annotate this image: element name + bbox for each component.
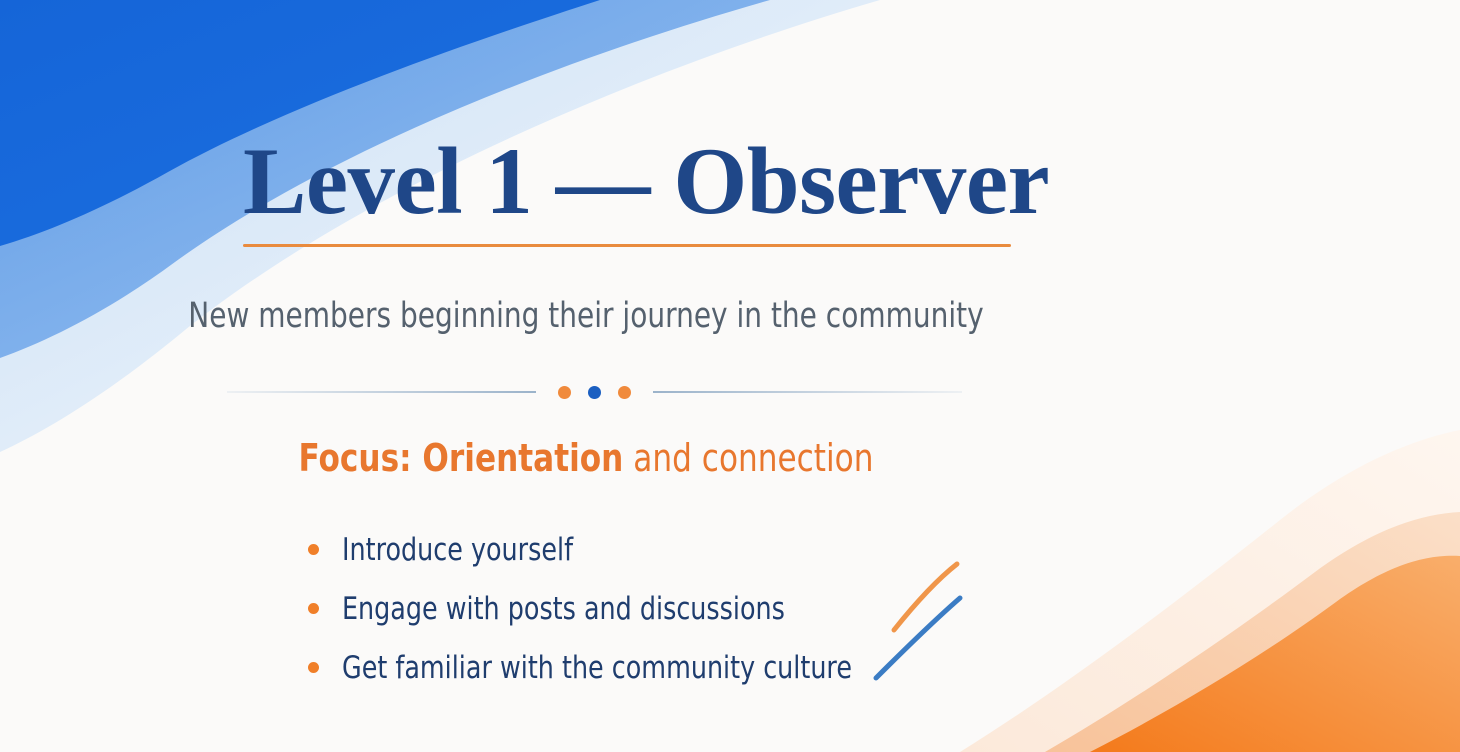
dot-orange-left [558, 386, 571, 399]
dot-blue-center [588, 386, 601, 399]
title-block: Level 1 — Observer [243, 133, 1011, 247]
dot-orange-right [618, 386, 631, 399]
list-item: Engage with posts and discussions [308, 579, 948, 638]
slide-canvas: Level 1 — Observer New members beginning… [0, 0, 1460, 752]
focus-label: Focus: Orientation [298, 436, 623, 480]
list-item-label: Introduce yourself [342, 532, 573, 568]
bullet-dot-icon [308, 544, 319, 555]
bullet-dot-icon [308, 603, 319, 614]
list-item-label: Get familiar with the community culture [342, 650, 852, 686]
focus-line: Focus: Orientation and connection [105, 436, 1066, 480]
list-item: Introduce yourself [308, 520, 948, 579]
bullet-list: Introduce yourself Engage with posts and… [308, 520, 948, 697]
divider-line-left [227, 391, 536, 393]
divider-dot-group [536, 386, 653, 399]
list-item: Get familiar with the community culture [308, 638, 948, 697]
title-underline-rule [243, 244, 1011, 247]
focus-detail: and connection [623, 436, 873, 480]
page-subtitle: New members beginning their journey in t… [117, 296, 1055, 336]
bullet-dot-icon [308, 662, 319, 673]
slide-content: Level 1 — Observer New members beginning… [0, 0, 1460, 752]
dot-divider [227, 384, 962, 400]
divider-line-right [653, 391, 962, 393]
list-item-label: Engage with posts and discussions [342, 591, 785, 627]
page-title: Level 1 — Observer [243, 133, 1011, 230]
